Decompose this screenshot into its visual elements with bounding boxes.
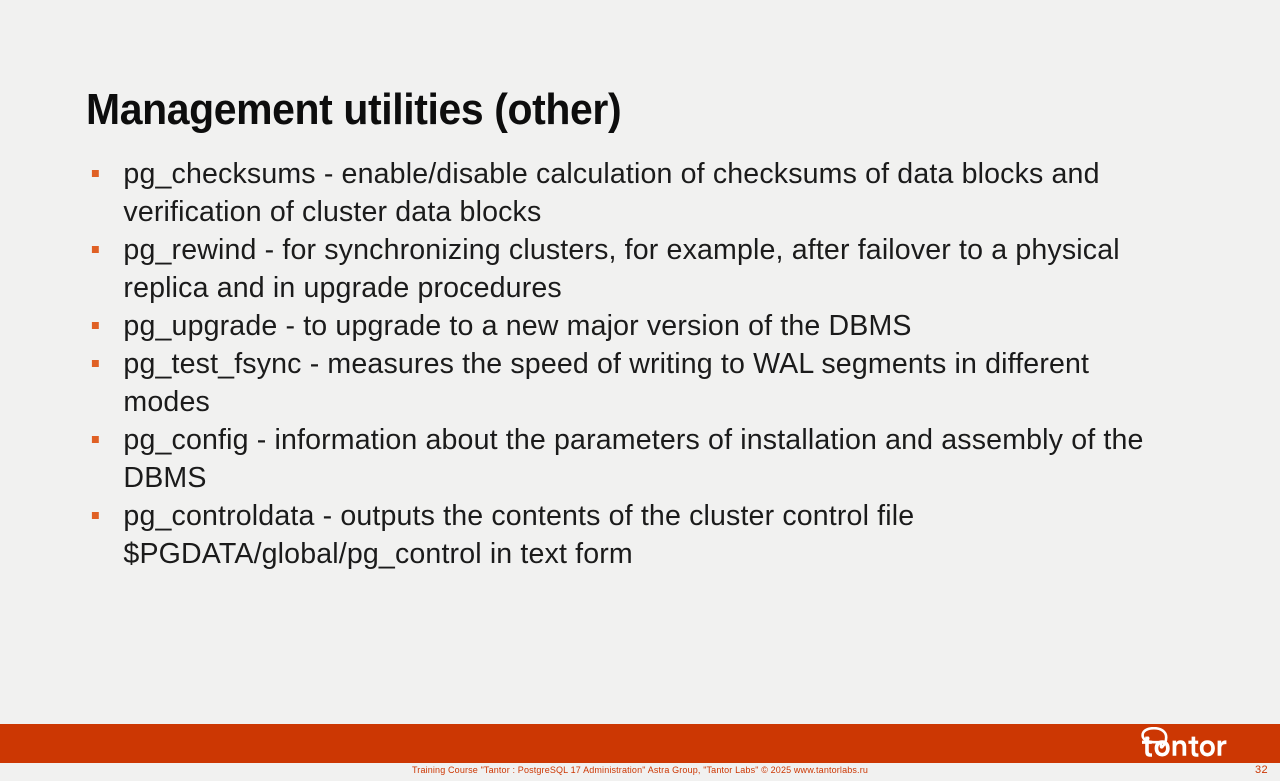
bullet-square-icon — [92, 436, 99, 443]
list-item-label: pg_controldata - outputs the contents of… — [123, 497, 1179, 573]
slide-canvas: Management utilities (other) pg_checksum… — [0, 0, 1280, 781]
list-item-label: pg_checksums - enable/disable calculatio… — [123, 155, 1179, 231]
list-item-label: pg_rewind - for synchronizing clusters, … — [123, 231, 1179, 307]
page-title: Management utilities (other) — [86, 81, 621, 139]
list-item-label: pg_config - information about the parame… — [123, 421, 1179, 497]
footer-credit: Training Course "Tantor : PostgreSQL 17 … — [0, 764, 1280, 777]
bullet-square-icon — [92, 360, 99, 367]
list-item: pg_config - information about the parame… — [86, 421, 1179, 497]
tantor-logo — [1140, 727, 1262, 761]
bullet-square-icon — [92, 322, 99, 329]
tantor-wordmark — [1142, 737, 1226, 757]
bullet-square-icon — [92, 246, 99, 253]
footer-accent-bar — [0, 724, 1280, 763]
list-item: pg_controldata - outputs the contents of… — [86, 497, 1179, 573]
list-item: pg_test_fsync - measures the speed of wr… — [86, 345, 1179, 421]
bullet-list: pg_checksums - enable/disable calculatio… — [86, 155, 1196, 573]
list-item: pg_rewind - for synchronizing clusters, … — [86, 231, 1179, 307]
bullet-square-icon — [92, 512, 99, 519]
page-number: 32 — [1255, 764, 1268, 777]
list-item-label: pg_test_fsync - measures the speed of wr… — [123, 345, 1179, 421]
list-item-label: pg_upgrade - to upgrade to a new major v… — [123, 307, 1179, 345]
bullet-square-icon — [92, 170, 99, 177]
list-item: pg_upgrade - to upgrade to a new major v… — [86, 307, 1179, 345]
list-item: pg_checksums - enable/disable calculatio… — [86, 155, 1179, 231]
